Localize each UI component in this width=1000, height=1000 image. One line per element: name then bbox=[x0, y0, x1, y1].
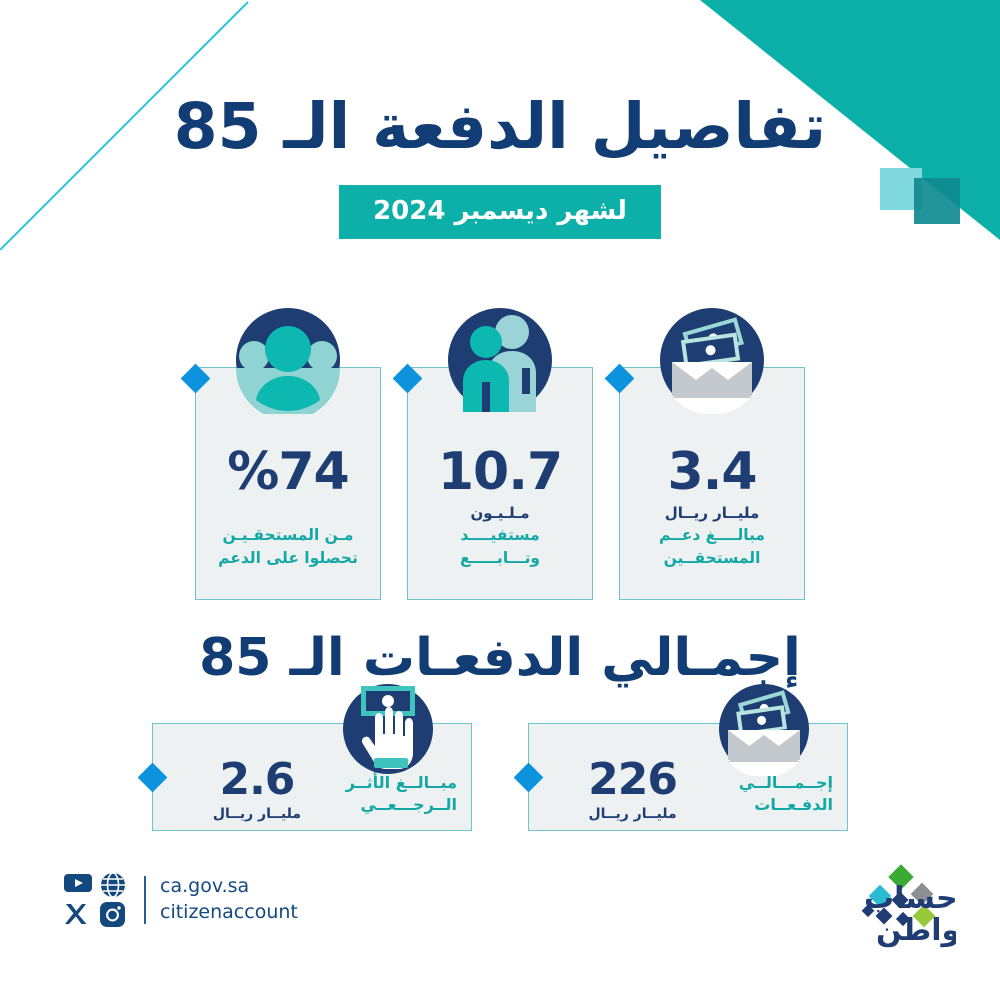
total-label: إجــمـــالــي الدفـعــات bbox=[683, 772, 833, 817]
total-label: مبــالــغ الأثــر الــرجـــعــي bbox=[307, 772, 457, 817]
stat-label: مـن المستحقـيـن تحصلوا على الدعم bbox=[208, 524, 368, 569]
stat-value: 3.4 bbox=[667, 446, 756, 498]
stat-label-line-2: تحصلوا على الدعم bbox=[218, 547, 358, 569]
header: تفاصيل الدفعة الـ 85 لشهر ديسمبر 2024 bbox=[0, 92, 1000, 239]
stat-unit: مليــار ريــال bbox=[665, 504, 759, 522]
hand-money-icon bbox=[341, 682, 435, 776]
diamond-accent-icon bbox=[138, 763, 168, 793]
page-title: تفاصيل الدفعة الـ 85 bbox=[0, 92, 1000, 163]
total-cards-row: مبــالــغ الأثــر الــرجـــعــي 2.6 مليـ… bbox=[0, 723, 1000, 831]
stat-cards-row: %74 مـن المستحقـيـن تحصلوا على الدعم 10.… bbox=[0, 367, 1000, 600]
total-number-block: 226 مليــار ريــال bbox=[588, 758, 677, 822]
total-number-block: 2.6 مليــار ريــال bbox=[213, 758, 301, 822]
stat-card-beneficiaries-count[interactable]: 10.7 مـلـيـون مستفيــــد وتـــابـــــع bbox=[407, 367, 593, 600]
stat-value: 10.7 bbox=[438, 446, 562, 498]
stat-label-line-2: وتـــابـــــع bbox=[460, 547, 540, 569]
stat-unit: مـلـيـون bbox=[470, 504, 529, 522]
globe-icon[interactable] bbox=[100, 872, 128, 898]
diamond-accent-icon bbox=[514, 763, 544, 793]
website-url[interactable]: ca.gov.sa bbox=[160, 874, 298, 900]
footer-handles: ca.gov.sa citizenaccount bbox=[160, 874, 298, 925]
stat-label-line-1: مستفيــــد bbox=[460, 524, 540, 546]
youtube-icon[interactable] bbox=[64, 872, 92, 898]
diamond-accent-icon bbox=[393, 364, 423, 394]
two-people-icon bbox=[446, 306, 554, 414]
stat-label: مبالــــغ دعــم المستحقــين bbox=[649, 524, 775, 569]
instagram-icon[interactable] bbox=[100, 902, 128, 928]
social-icon-grid bbox=[64, 872, 130, 928]
logo-text-line-2: المواطن bbox=[876, 913, 956, 948]
total-value: 226 bbox=[588, 758, 677, 802]
total-label-line-2: الدفـعــات bbox=[683, 794, 833, 816]
footer-divider bbox=[144, 876, 146, 924]
total-card-all-payments[interactable]: إجــمـــالــي الدفـعــات 226 مليــار ريـ… bbox=[528, 723, 848, 831]
stat-value: %74 bbox=[227, 446, 348, 498]
total-card-retroactive-amount[interactable]: مبــالــغ الأثــر الــرجـــعــي 2.6 مليـ… bbox=[152, 723, 472, 831]
diamond-accent-icon bbox=[181, 364, 211, 394]
citizen-account-logo: حساب المواطن bbox=[746, 864, 956, 948]
social-handle[interactable]: citizenaccount bbox=[160, 900, 298, 926]
section-title-total-payments: إجمـالي الدفعـات الـ 85 bbox=[0, 628, 1000, 688]
x-twitter-icon[interactable] bbox=[64, 902, 92, 928]
footer: ca.gov.sa citizenaccount حساب المواطن bbox=[0, 864, 1000, 954]
stat-label-line-1: مـن المستحقـيـن bbox=[218, 524, 358, 546]
envelope-money-icon bbox=[717, 682, 811, 776]
stat-label-line-2: المستحقــين bbox=[659, 547, 765, 569]
person-group-icon bbox=[234, 306, 342, 414]
stat-card-support-amount[interactable]: 3.4 مليــار ريــال مبالــــغ دعــم المست… bbox=[619, 367, 805, 600]
month-badge: لشهر ديسمبر 2024 bbox=[339, 185, 661, 239]
stat-card-beneficiary-percentage[interactable]: %74 مـن المستحقـيـن تحصلوا على الدعم bbox=[195, 367, 381, 600]
diamond-accent-icon bbox=[605, 364, 635, 394]
envelope-money-icon bbox=[658, 306, 766, 414]
total-value: 2.6 bbox=[219, 758, 294, 802]
logo-text-line-1: حساب bbox=[864, 881, 956, 916]
social-links: ca.gov.sa citizenaccount bbox=[64, 872, 298, 928]
stat-label: مستفيــــد وتـــابـــــع bbox=[450, 524, 550, 569]
total-unit: مليــار ريــال bbox=[213, 806, 301, 822]
total-label-line-2: الــرجـــعــي bbox=[307, 794, 457, 816]
total-unit: مليــار ريــال bbox=[589, 806, 677, 822]
stat-label-line-1: مبالــــغ دعــم bbox=[659, 524, 765, 546]
